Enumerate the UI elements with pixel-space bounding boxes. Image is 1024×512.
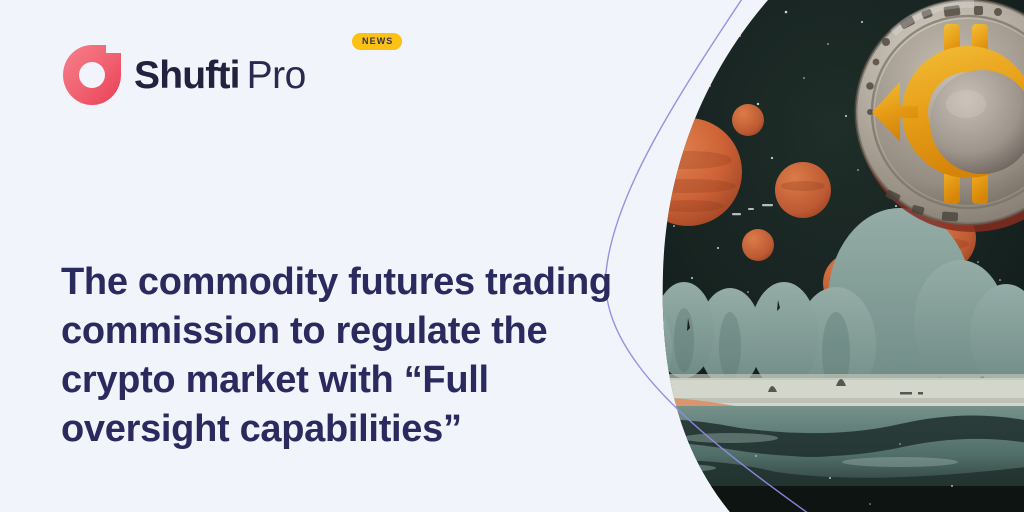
headline-line-3: crypto market with “Full <box>61 356 641 405</box>
headline: The commodity futures trading commission… <box>61 258 641 454</box>
crypto-space-illustration <box>600 0 1024 512</box>
shufti-ring-logo-icon <box>62 44 122 106</box>
news-banner: Shufti Pro NEWS The commodity futures tr… <box>0 0 1024 512</box>
logo-text-pro: Pro <box>247 56 306 95</box>
news-badge: NEWS <box>352 33 402 50</box>
artwork-panel <box>600 0 1024 512</box>
headline-line-4: oversight capabilities” <box>61 405 641 454</box>
headline-line-2: commission to regulate the <box>61 307 641 356</box>
logo-text-shufti: Shufti <box>134 56 240 95</box>
brand-logo[interactable]: Shufti Pro NEWS <box>62 44 306 116</box>
headline-line-1: The commodity futures trading <box>61 258 641 307</box>
